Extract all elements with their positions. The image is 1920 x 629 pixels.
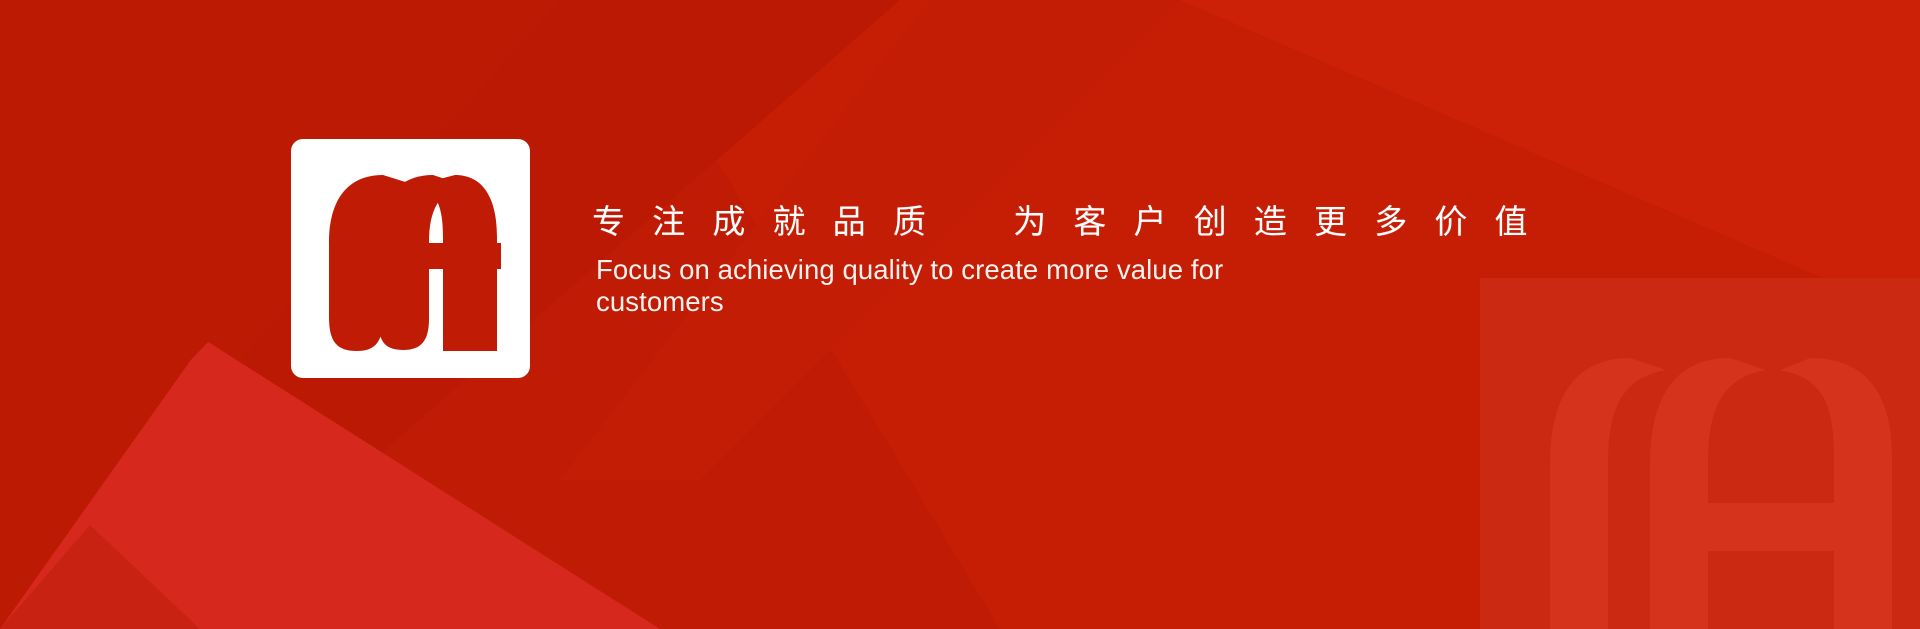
watermark-logo <box>1480 278 1920 629</box>
banner-text-block: 专 注 成 就 品 质 为 客 户 创 造 更 多 价 值 Focus on a… <box>592 198 1692 318</box>
watermark-monogram-icon <box>1480 278 1920 629</box>
headline-chinese: 专 注 成 就 品 质 为 客 户 创 造 更 多 价 值 <box>592 198 1692 246</box>
promo-banner: 专 注 成 就 品 质 为 客 户 创 造 更 多 价 值 Focus on a… <box>0 0 1920 629</box>
company-logo[interactable] <box>291 139 530 378</box>
chevron-mid-left <box>0 300 210 560</box>
watermark-panel <box>1480 278 1920 629</box>
triangle-bottom-left <box>0 340 660 629</box>
triangle-bottom-corner <box>0 525 200 629</box>
company-logo-icon <box>291 139 530 378</box>
headline-english: Focus on achieving quality to create mor… <box>592 254 1236 318</box>
logo-glyph <box>329 175 501 351</box>
